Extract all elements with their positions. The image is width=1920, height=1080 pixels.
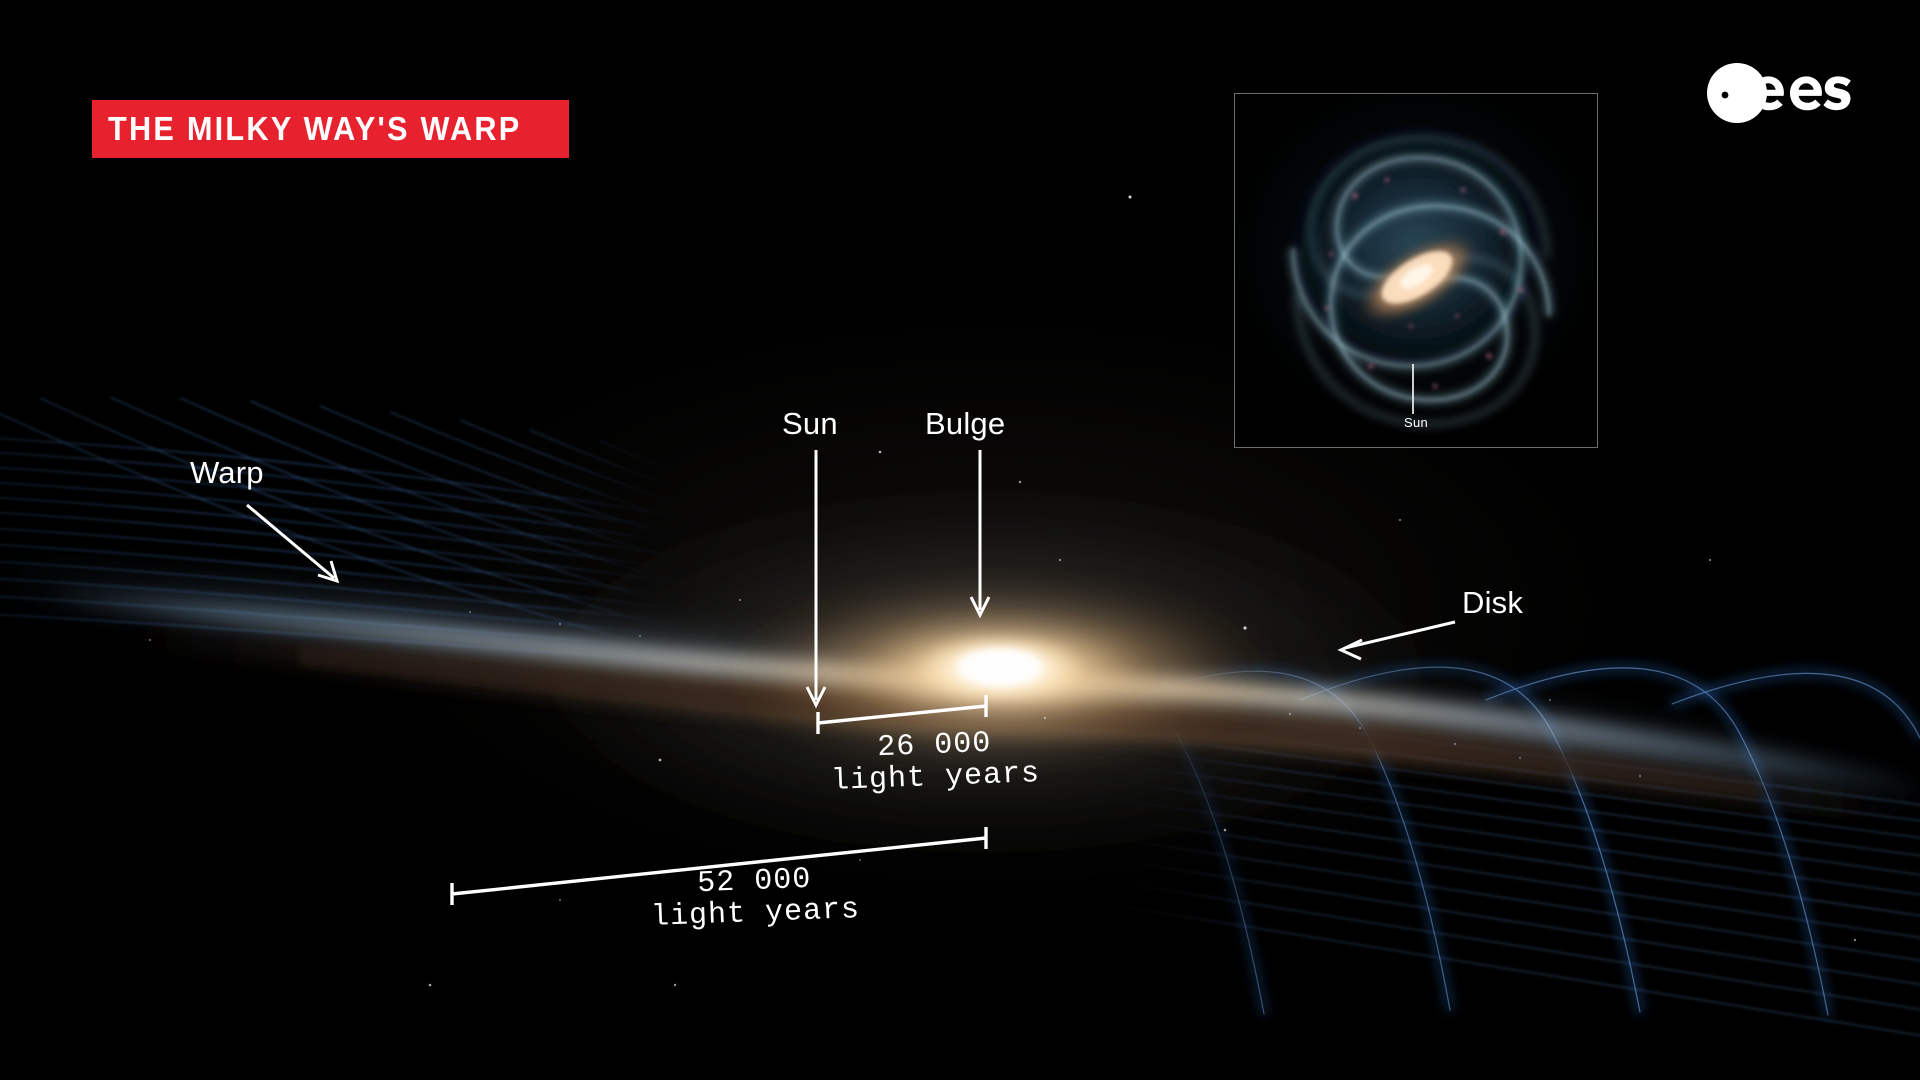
label-warp: Warp — [190, 455, 264, 491]
label-sun: Sun — [782, 406, 838, 442]
inset-panel[interactable]: Sun — [1234, 93, 1598, 448]
measurement-52000-light-years: 52 000 light years — [629, 861, 881, 935]
illustration-canvas: THE MILKY WAY'S WARP — [0, 0, 1920, 1080]
page-title: THE MILKY WAY'S WARP — [108, 110, 521, 148]
label-bulge: Bulge — [925, 406, 1005, 442]
esa-logo[interactable] — [1707, 62, 1867, 124]
esa-logo-mark — [1707, 62, 1867, 124]
label-disk: Disk — [1462, 585, 1523, 621]
measurement-26000-light-years: 26 000 light years — [819, 726, 1051, 800]
galaxy-render — [0, 0, 1920, 1080]
inset-sun-label: Sun — [1235, 415, 1597, 430]
title-banner: THE MILKY WAY'S WARP — [92, 100, 569, 158]
inset-galaxy-render — [1235, 94, 1597, 447]
